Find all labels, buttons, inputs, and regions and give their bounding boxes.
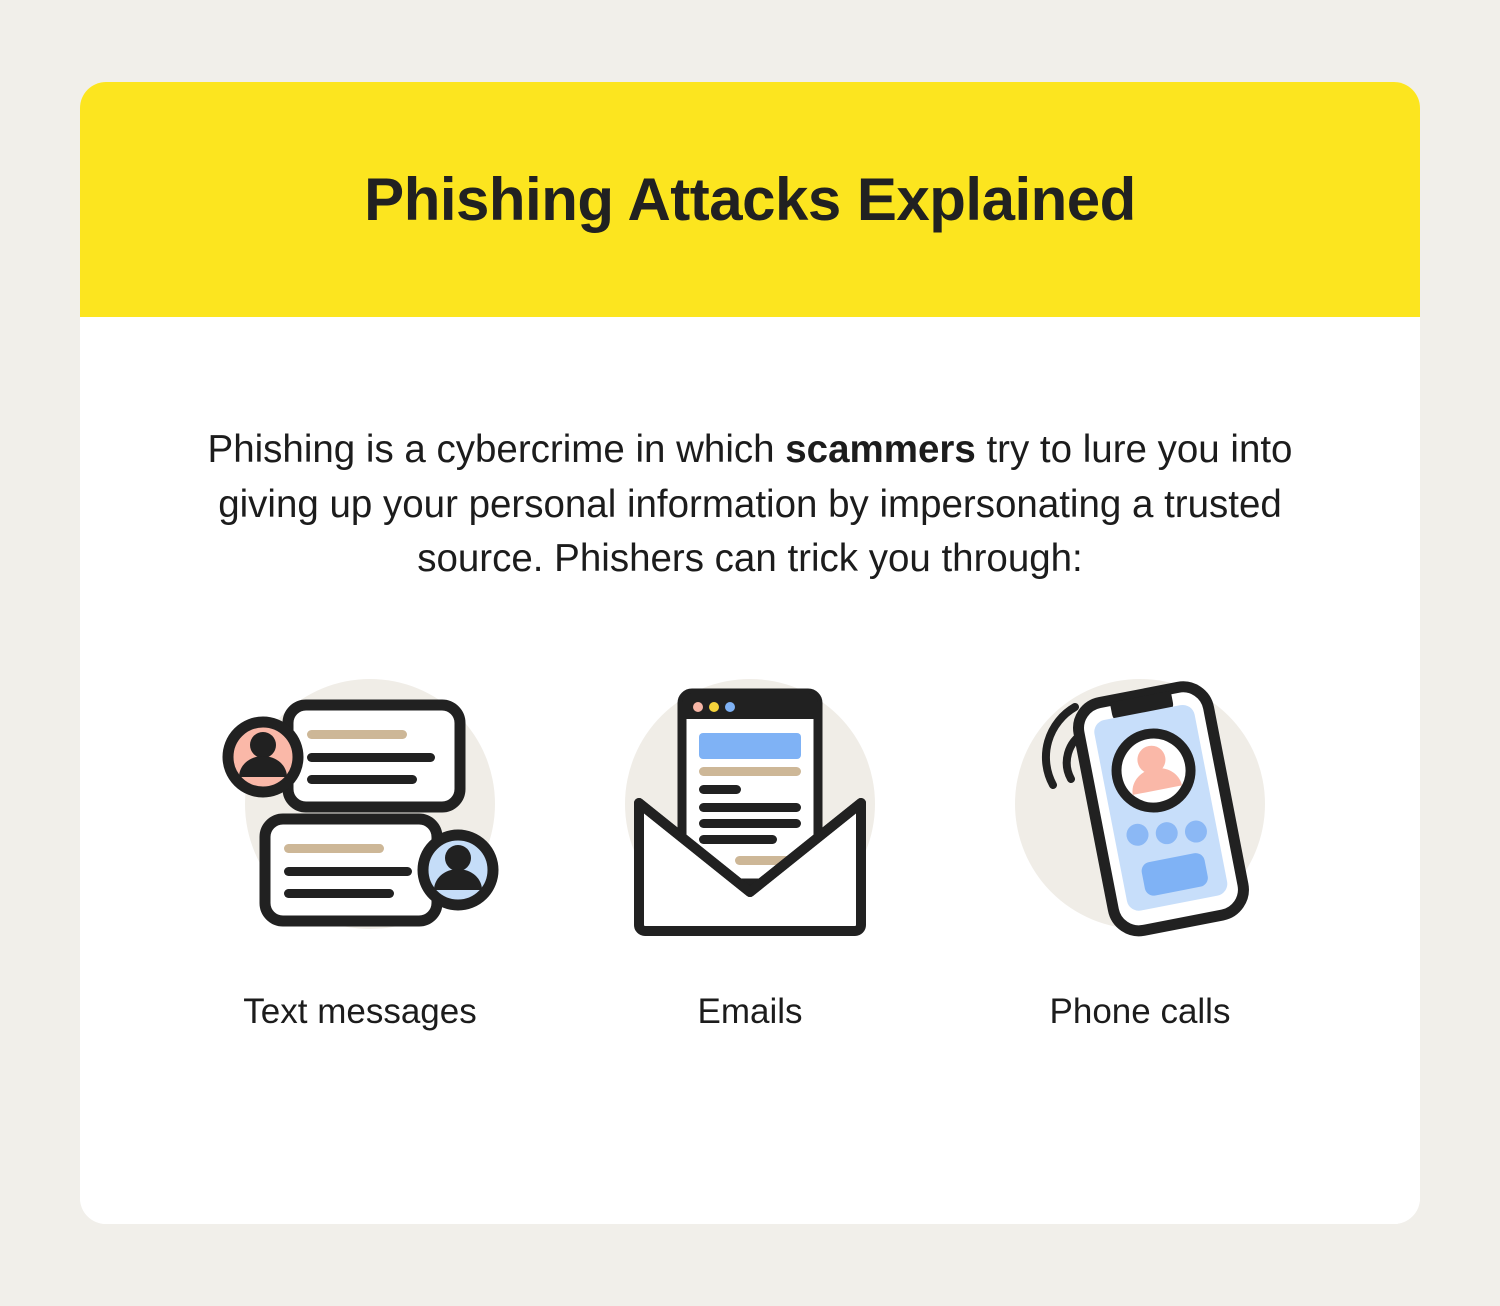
method-text-messages: Text messages [200, 667, 520, 1029]
methods-row: Text messages [200, 667, 1300, 1029]
method-label: Text messages [243, 994, 476, 1029]
chat-bubbles-icon [205, 667, 515, 952]
method-label: Emails [697, 994, 802, 1029]
ringing-phone-icon [985, 667, 1295, 952]
intro-paragraph: Phishing is a cybercrime in which scamme… [175, 423, 1325, 587]
method-phone-calls: Phone calls [980, 667, 1300, 1029]
card-body: Phishing is a cybercrime in which scamme… [80, 317, 1420, 1224]
infographic-card: Phishing Attacks Explained Phishing is a… [80, 82, 1420, 1224]
intro-emphasis: scammers [785, 428, 976, 471]
method-label: Phone calls [1050, 994, 1231, 1029]
open-envelope-icon [595, 667, 905, 952]
method-emails: Emails [590, 667, 910, 1029]
ringing-phone-art [985, 667, 1295, 952]
open-envelope-art [595, 667, 905, 952]
card-header: Phishing Attacks Explained [80, 82, 1420, 317]
intro-part-1: Phishing is a cybercrime in which [208, 428, 786, 471]
chat-bubbles-art [205, 667, 515, 952]
page-title: Phishing Attacks Explained [324, 167, 1176, 233]
infographic-page: Phishing Attacks Explained Phishing is a… [0, 0, 1500, 1306]
